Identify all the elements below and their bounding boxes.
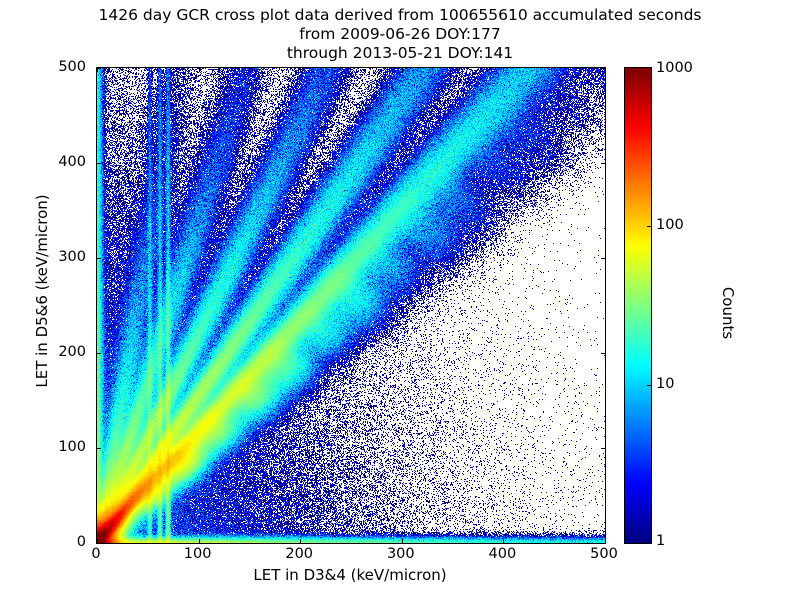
x-tick-label: 300 bbox=[387, 546, 415, 562]
x-axis-label: LET in D3&4 (keV/micron) bbox=[96, 566, 604, 584]
colorbar-tick-label: 10 bbox=[656, 376, 674, 392]
y-tick-mark-right bbox=[601, 353, 605, 354]
y-tick-mark-right bbox=[601, 68, 605, 69]
chart-title: 1426 day GCR cross plot data derived fro… bbox=[0, 6, 800, 63]
y-tick-mark-right bbox=[601, 543, 605, 544]
colorbar-tick-label: 1000 bbox=[656, 60, 693, 76]
x-tick-label: 200 bbox=[285, 546, 313, 562]
y-tick-mark bbox=[96, 448, 101, 449]
x-tick-label: 100 bbox=[184, 546, 212, 562]
y-tick-label: 500 bbox=[0, 59, 86, 75]
x-tick-mark bbox=[503, 539, 504, 544]
y-tick-mark bbox=[96, 163, 101, 164]
x-tick-mark-top bbox=[199, 68, 200, 72]
colorbar-label: Counts bbox=[719, 233, 737, 393]
x-tick-mark bbox=[199, 539, 200, 544]
y-tick-mark-right bbox=[601, 163, 605, 164]
y-tick-mark bbox=[96, 258, 101, 259]
y-tick-mark bbox=[96, 353, 101, 354]
y-axis-label: LET in D5&6 (keV/micron) bbox=[33, 181, 51, 401]
chart-title-line-2: from 2009-06-26 DOY:177 bbox=[0, 25, 800, 44]
x-tick-mark-top bbox=[402, 68, 403, 72]
figure-canvas: 1426 day GCR cross plot data derived fro… bbox=[0, 0, 800, 600]
y-tick-mark bbox=[96, 543, 101, 544]
x-tick-label: 0 bbox=[91, 546, 100, 562]
density-heatmap bbox=[97, 68, 605, 543]
y-tick-label: 100 bbox=[0, 439, 86, 455]
x-tick-mark bbox=[605, 539, 606, 544]
colorbar-tick-label: 100 bbox=[656, 217, 684, 233]
x-tick-mark-top bbox=[503, 68, 504, 72]
y-tick-mark-right bbox=[601, 448, 605, 449]
colorbar-tick-mark bbox=[647, 226, 651, 227]
x-tick-label: 500 bbox=[590, 546, 618, 562]
y-tick-mark bbox=[96, 68, 101, 69]
y-tick-label: 0 bbox=[0, 534, 86, 550]
x-tick-mark-top bbox=[605, 68, 606, 72]
x-tick-mark bbox=[300, 539, 301, 544]
x-tick-mark bbox=[402, 539, 403, 544]
chart-title-line-1: 1426 day GCR cross plot data derived fro… bbox=[0, 6, 800, 25]
x-tick-label: 400 bbox=[489, 546, 517, 562]
colorbar-tick-mark bbox=[647, 385, 651, 386]
y-tick-label: 400 bbox=[0, 154, 86, 170]
colorbar-tick-label: 1 bbox=[656, 533, 665, 549]
colorbar bbox=[624, 67, 652, 544]
colorbar-gradient bbox=[625, 68, 651, 543]
y-tick-mark-right bbox=[601, 258, 605, 259]
plot-area bbox=[96, 67, 606, 544]
x-tick-mark-top bbox=[300, 68, 301, 72]
